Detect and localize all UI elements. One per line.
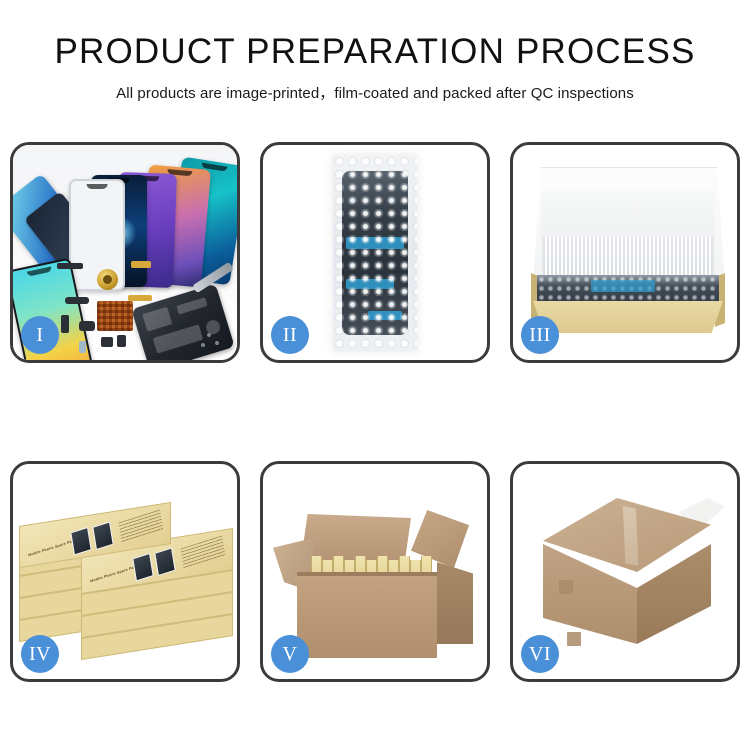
box-front-icon (533, 301, 723, 333)
wireless-charging-coil-icon (97, 269, 118, 290)
step-badge-2: II (271, 316, 309, 354)
small-part-icon (61, 315, 69, 333)
copper-grid-part-icon (97, 301, 133, 331)
sim-tray-icon (117, 335, 126, 347)
process-step-6[interactable]: VI (510, 461, 740, 682)
flex-cable-icon (128, 295, 152, 301)
process-step-5[interactable]: V (260, 461, 490, 682)
carton-front-icon (297, 576, 437, 658)
carton-tab-icon (567, 632, 581, 646)
page-title: PRODUCT PREPARATION PROCESS (0, 34, 750, 71)
step-badge-1: I (21, 316, 59, 354)
foam-liner-icon (543, 237, 713, 279)
step-badge-4: IV (21, 635, 59, 673)
bubble-wrap-pouch-icon (333, 155, 417, 351)
step-badge-5: V (271, 635, 309, 673)
small-part-icon (79, 321, 95, 331)
process-grid: I II (10, 142, 740, 682)
step-badge-6: VI (521, 635, 559, 673)
process-step-3[interactable]: III (510, 142, 740, 363)
page-header: PRODUCT PREPARATION PROCESS All products… (0, 0, 750, 103)
flex-cable-icon (131, 261, 151, 268)
small-part-icon (101, 337, 113, 347)
carton-tab-icon (559, 580, 573, 594)
page-subtitle: All products are image-printed，film-coat… (0, 82, 750, 103)
bubble-texture-outline (333, 155, 417, 351)
process-step-2[interactable]: II (260, 142, 490, 363)
step-badge-3: III (521, 316, 559, 354)
process-step-4[interactable]: Mobile Phone Spare Parts Mobile Phone Sp… (10, 461, 240, 682)
process-step-1[interactable]: I (10, 142, 240, 363)
battery-part-icon (79, 341, 86, 353)
speaker-part-icon (57, 263, 83, 269)
camera-module-icon (65, 297, 89, 304)
carton-side-icon (437, 562, 473, 644)
packed-product-icon (537, 275, 719, 303)
